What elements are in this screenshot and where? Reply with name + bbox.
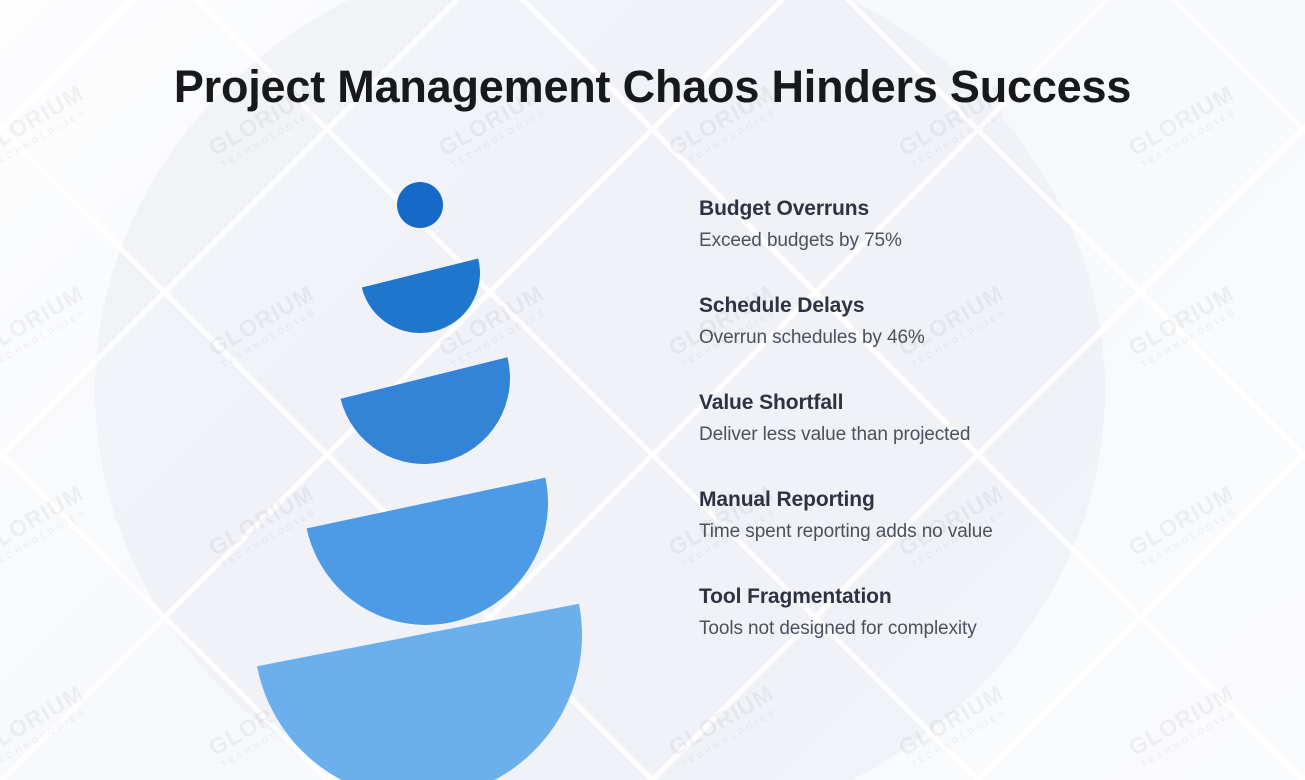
list-item-title: Budget Overruns xyxy=(699,196,1219,222)
watermark-brand: GLORIUM xyxy=(0,682,88,760)
list-item: Manual Reporting Time spent reporting ad… xyxy=(699,487,1219,545)
watermark-logo: GLORIUMTECHNOLOGIES xyxy=(1125,682,1244,770)
semicircle-4-icon xyxy=(257,604,610,780)
list-item-title: Tool Fragmentation xyxy=(699,584,1219,610)
infographic-slide: GLORIUMTECHNOLOGIESGLORIUMTECHNOLOGIESGL… xyxy=(0,0,1305,780)
watermark-brand: GLORIUM xyxy=(0,482,88,560)
watermark-tagline: TECHNOLOGIES xyxy=(1140,704,1244,769)
list-item: Schedule Delays Overrun schedules by 46% xyxy=(699,293,1219,351)
list-item-title: Value Shortfall xyxy=(699,390,1219,416)
watermark-tagline: TECHNOLOGIES xyxy=(1140,104,1244,169)
circle-top-icon xyxy=(397,182,443,228)
watermark-brand: GLORIUM xyxy=(895,682,1008,760)
list-item-title: Schedule Delays xyxy=(699,293,1219,319)
watermark-logo: GLORIUMTECHNOLOGIES xyxy=(665,682,784,770)
watermark-logo: GLORIUMTECHNOLOGIES xyxy=(895,682,1014,770)
watermark-tagline: TECHNOLOGIES xyxy=(0,104,94,169)
watermark-tagline: TECHNOLOGIES xyxy=(450,104,554,169)
semicircle-1-icon xyxy=(362,258,493,345)
watermark-tagline: TECHNOLOGIES xyxy=(0,704,94,769)
watermark-tagline: TECHNOLOGIES xyxy=(680,704,784,769)
watermark-logo: GLORIUMTECHNOLOGIES xyxy=(0,282,94,370)
watermark-brand: GLORIUM xyxy=(0,282,88,360)
stacked-semicircles-graphic xyxy=(230,165,610,725)
watermark-logo: GLORIUMTECHNOLOGIES xyxy=(0,482,94,570)
watermark-tagline: TECHNOLOGIES xyxy=(910,104,1014,169)
watermark-tagline: TECHNOLOGIES xyxy=(0,304,94,369)
list-item-title: Manual Reporting xyxy=(699,487,1219,513)
list-item: Value Shortfall Deliver less value than … xyxy=(699,390,1219,448)
list-item: Budget Overruns Exceed budgets by 75% xyxy=(699,196,1219,254)
watermark-tagline: TECHNOLOGIES xyxy=(910,704,1014,769)
issues-list: Budget Overruns Exceed budgets by 75% Sc… xyxy=(699,196,1219,642)
page-title: Project Management Chaos Hinders Success xyxy=(0,62,1305,112)
semicircle-2-icon xyxy=(341,357,529,482)
list-item-description: Tools not designed for complexity xyxy=(699,617,1219,642)
watermark-tagline: TECHNOLOGIES xyxy=(0,504,94,569)
watermark-tagline: TECHNOLOGIES xyxy=(220,104,324,169)
watermark-tagline: TECHNOLOGIES xyxy=(680,104,784,169)
watermark-brand: GLORIUM xyxy=(665,682,778,760)
list-item: Tool Fragmentation Tools not designed fo… xyxy=(699,584,1219,642)
list-item-description: Overrun schedules by 46% xyxy=(699,326,1219,351)
watermark-brand: GLORIUM xyxy=(1125,682,1238,760)
list-item-description: Deliver less value than projected xyxy=(699,423,1219,448)
list-item-description: Exceed budgets by 75% xyxy=(699,229,1219,254)
watermark-logo: GLORIUMTECHNOLOGIES xyxy=(0,682,94,770)
list-item-description: Time spent reporting adds no value xyxy=(699,520,1219,545)
